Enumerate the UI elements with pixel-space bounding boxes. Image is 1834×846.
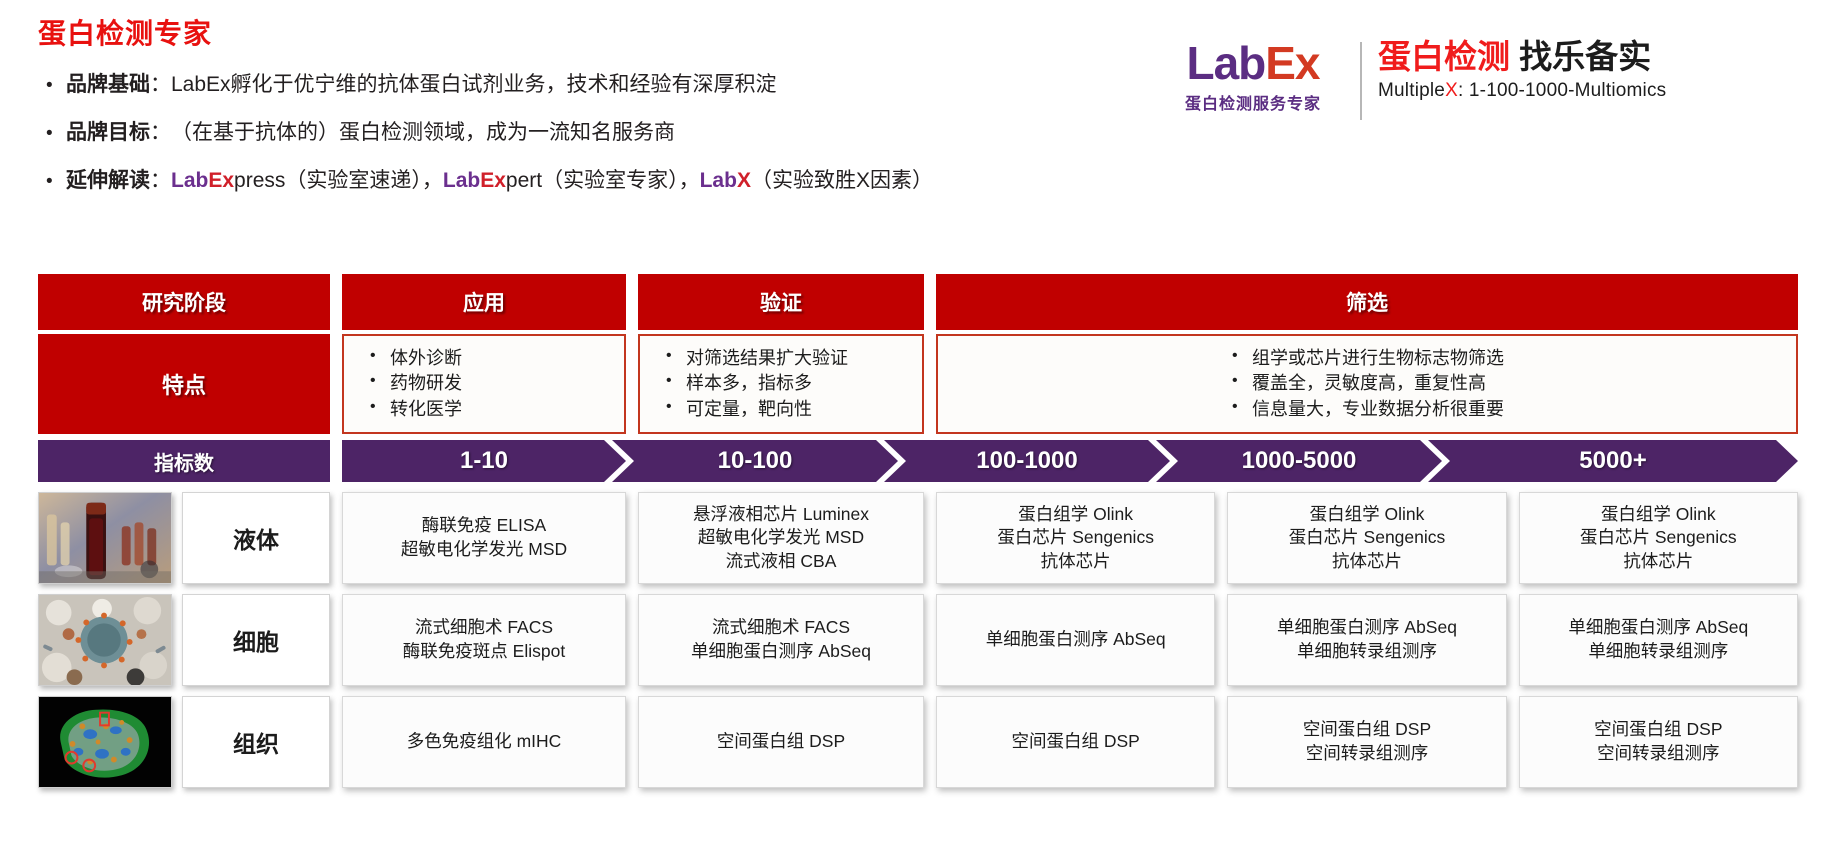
feature-item: 转化医学 [368, 397, 462, 423]
indicator-chevron-5: 5000+ [1428, 440, 1798, 482]
feature-box-validation: 对筛选结果扩大验证 样本多，指标多 可定量，靶向性 [638, 334, 924, 434]
cell-microscopy-photo [38, 594, 172, 686]
feature-item: 信息量大，专业数据分析很重要 [1230, 397, 1504, 423]
cell-cell-4: 单细胞蛋白测序 AbSeq单细胞转录组测序 [1227, 594, 1506, 686]
spacer [626, 594, 638, 686]
cell-text: 单细胞蛋白测序 AbSeq单细胞转录组测序 [1568, 616, 1748, 663]
logo-wordmark-ex: Ex [1265, 37, 1319, 89]
cell-line: 空间蛋白组 DSP [717, 730, 845, 754]
spacer [330, 594, 342, 686]
logo-divider [1360, 42, 1362, 120]
feature-list-screening: 组学或芯片进行生物标志物筛选 覆盖全，灵敏度高，重复性高 信息量大，专业数据分析… [1230, 346, 1504, 423]
spacer [626, 334, 638, 434]
spacer [1215, 492, 1227, 584]
feature-item: 药物研发 [368, 371, 462, 397]
cell-text: 悬浮液相芯片 Luminex超敏电化学发光 MSD流式液相 CBA [693, 503, 869, 574]
spacer [924, 274, 936, 330]
indicator-chevron-2: 10-100 [612, 440, 898, 482]
cell-line: 悬浮液相芯片 Luminex [693, 503, 869, 527]
bullet-text-1: LabEx孵化于优宁维的抗体蛋白试剂业务，技术和经验有深厚积淀 [171, 68, 777, 98]
multiplex-x: X [1445, 80, 1458, 101]
cell-line: 单细胞蛋白测序 AbSeq [986, 628, 1166, 652]
indicator-chevron-1: 1-10 [342, 440, 626, 482]
logo-tagline-red: 蛋白检测 [1378, 38, 1510, 75]
cell-line: 空间转录组测序 [1594, 742, 1722, 766]
spacer [330, 334, 342, 434]
feature-box-application: 体外诊断 药物研发 转化医学 [342, 334, 626, 434]
spacer [626, 492, 638, 584]
cell-liquid-2: 悬浮液相芯片 Luminex超敏电化学发光 MSD流式液相 CBA [638, 492, 924, 584]
indicator-chevron-3: 100-1000 [884, 440, 1170, 482]
spacer [172, 594, 182, 686]
header-col-application: 应用 [342, 274, 626, 330]
spacer [1215, 594, 1227, 686]
cell-text: 单细胞蛋白测序 AbSeq单细胞转录组测序 [1277, 616, 1457, 663]
logo-left-block: LabEx 蛋白检测服务专家 [1160, 40, 1360, 114]
cell-line: 蛋白芯片 Sengenics [1289, 526, 1446, 550]
cell-text: 单细胞蛋白测序 AbSeq [986, 628, 1166, 652]
feature-item: 覆盖全，灵敏度高，重复性高 [1230, 371, 1504, 397]
cell-line: 空间转录组测序 [1303, 742, 1431, 766]
bullet-list: • 品牌基础 ： LabEx孵化于优宁维的抗体蛋白试剂业务，技术和经验有深厚积淀… [40, 68, 1120, 212]
cell-tissue-2: 空间蛋白组 DSP [638, 696, 924, 788]
cell-tissue-4: 空间蛋白组 DSP空间转录组测序 [1227, 696, 1506, 788]
cell-text: 蛋白组学 Olink蛋白芯片 Sengenics抗体芯片 [1580, 503, 1737, 574]
spacer [1215, 696, 1227, 788]
logo-right-block: 蛋白检测 找乐备实 MultipleX: 1-100-1000-Multiomi… [1378, 40, 1666, 102]
cell-liquid-1: 酶联免疫 ELISA超敏电化学发光 MSD [342, 492, 626, 584]
spacer [330, 440, 342, 482]
spacer [626, 274, 638, 330]
slide-root: 蛋白检测专家 • 品牌基础 ： LabEx孵化于优宁维的抗体蛋白试剂业务，技术和… [0, 0, 1834, 846]
matrix-body-row-cell: 细胞 流式细胞术 FACS酶联免疫斑点 Elispot 流式细胞术 FACS单细… [38, 594, 1798, 686]
cell-liquid-5: 蛋白组学 Olink蛋白芯片 Sengenics抗体芯片 [1519, 492, 1798, 584]
cell-line: 单细胞转录组测序 [1568, 640, 1748, 664]
matrix-header-row: 研究阶段 应用 验证 筛选 [38, 274, 1798, 330]
matrix-feature-row: 特点 体外诊断 药物研发 转化医学 对筛选结果扩大验证 样本多，指标多 可定量，… [38, 334, 1798, 434]
logo-wordmark-lab: Lab [1186, 37, 1265, 89]
cell-line: 流式液相 CBA [693, 550, 869, 574]
spacer [924, 492, 936, 584]
bullet-item-1: • 品牌基础 ： LabEx孵化于优宁维的抗体蛋白试剂业务，技术和经验有深厚积淀 [40, 68, 1120, 98]
cell-cell-5: 单细胞蛋白测序 AbSeq单细胞转录组测序 [1519, 594, 1798, 686]
cell-cell-2: 流式细胞术 FACS单细胞蛋白测序 AbSeq [638, 594, 924, 686]
cell-line: 超敏电化学发光 MSD [693, 526, 869, 550]
feature-item: 可定量，靶向性 [664, 397, 848, 423]
cell-liquid-4: 蛋白组学 Olink蛋白芯片 Sengenics抗体芯片 [1227, 492, 1506, 584]
cell-text: 多色免疫组化 mIHC [407, 730, 562, 754]
header-stage: 研究阶段 [38, 274, 330, 330]
blood-vial-photo [38, 492, 172, 584]
logo-tagline: 蛋白检测 找乐备实 [1378, 40, 1666, 75]
cell-text: 空间蛋白组 DSP [1011, 730, 1139, 754]
spacer [1507, 594, 1519, 686]
cell-line: 蛋白组学 Olink [997, 503, 1154, 527]
bullet-item-3: • 延伸解读 ： LabExpress（实验室速递），LabExpert（实验室… [40, 164, 1120, 194]
cell-text: 流式细胞术 FACS酶联免疫斑点 Elispot [403, 616, 565, 663]
cell-line: 单细胞蛋白测序 AbSeq [1568, 616, 1748, 640]
feature-box-screening: 组学或芯片进行生物标志物筛选 覆盖全，灵敏度高，重复性高 信息量大，专业数据分析… [936, 334, 1798, 434]
cell-tissue-1: 多色免疫组化 mIHC [342, 696, 626, 788]
spacer [924, 594, 936, 686]
cell-line: 抗体芯片 [1289, 550, 1446, 574]
bullet-text-3: LabExpress（实验室速递），LabExpert（实验室专家），LabX（… [171, 164, 933, 194]
logo-multiplex-line: MultipleX: 1-100-1000-Multiomics [1378, 80, 1666, 102]
tissue-section-photo [38, 696, 172, 788]
cell-tissue-5: 空间蛋白组 DSP空间转录组测序 [1519, 696, 1798, 788]
row-label-tissue: 组织 [182, 696, 330, 788]
bullet-item-2: • 品牌目标 ： （在基于抗体的）蛋白检测领域，成为一流知名服务商 [40, 116, 1120, 146]
row-label-cell: 细胞 [182, 594, 330, 686]
cell-text: 蛋白组学 Olink蛋白芯片 Sengenics抗体芯片 [1289, 503, 1446, 574]
cell-line: 空间蛋白组 DSP [1594, 718, 1722, 742]
capability-matrix: 研究阶段 应用 验证 筛选 特点 体外诊断 药物研发 转化医学 对筛选结果 [38, 274, 1798, 788]
cell-line: 流式细胞术 FACS [691, 616, 871, 640]
cell-cell-1: 流式细胞术 FACS酶联免疫斑点 Elispot [342, 594, 626, 686]
multiplex-pre: Multiple [1378, 80, 1445, 101]
cell-line: 酶联免疫 ELISA [401, 514, 567, 538]
cell-line: 酶联免疫斑点 Elispot [403, 640, 565, 664]
cell-line: 单细胞转录组测序 [1277, 640, 1457, 664]
feature-item: 样本多，指标多 [664, 371, 848, 397]
spacer [626, 696, 638, 788]
spacer [924, 334, 936, 434]
spacer [330, 492, 342, 584]
cell-line: 抗体芯片 [1580, 550, 1737, 574]
cell-line: 多色免疫组化 mIHC [407, 730, 562, 754]
matrix-body-row-tissue: 组织 多色免疫组化 mIHC 空间蛋白组 DSP 空间蛋白组 DSP 空间蛋白组… [38, 696, 1798, 788]
page-title: 蛋白检测专家 [38, 12, 212, 52]
bullet-sep-3: ： [150, 164, 171, 194]
matrix-body-row-liquid: 液体 酶联免疫 ELISA超敏电化学发光 MSD 悬浮液相芯片 Luminex超… [38, 492, 1798, 584]
spacer [172, 492, 182, 584]
indicator-row-label: 指标数 [38, 440, 330, 482]
cell-line: 空间蛋白组 DSP [1011, 730, 1139, 754]
spacer [1507, 696, 1519, 788]
cell-line: 空间蛋白组 DSP [1303, 718, 1431, 742]
bullet-text-2: （在基于抗体的）蛋白检测领域，成为一流知名服务商 [171, 116, 675, 146]
bullet-marker-icon: • [40, 75, 66, 97]
spacer [330, 274, 342, 330]
multiplex-post: : 1-100-1000-Multiomics [1458, 80, 1666, 101]
cell-line: 抗体芯片 [997, 550, 1154, 574]
bullet-marker-icon: • [40, 123, 66, 145]
cell-cell-3: 单细胞蛋白测序 AbSeq [936, 594, 1215, 686]
cell-tissue-3: 空间蛋白组 DSP [936, 696, 1215, 788]
bullet-label-2: 品牌目标 [66, 116, 150, 146]
cell-text: 蛋白组学 Olink蛋白芯片 Sengenics抗体芯片 [997, 503, 1154, 574]
bullet-label-1: 品牌基础 [66, 68, 150, 98]
labex-logo: LabEx 蛋白检测服务专家 蛋白检测 找乐备实 MultipleX: 1-10… [1160, 40, 1666, 120]
matrix-indicator-row: 指标数 1-10 10-100 100-1000 1000-5000 5000+ [38, 440, 1798, 482]
cell-line: 流式细胞术 FACS [403, 616, 565, 640]
cell-liquid-3: 蛋白组学 Olink蛋白芯片 Sengenics抗体芯片 [936, 492, 1215, 584]
row-label-liquid: 液体 [182, 492, 330, 584]
bullet-marker-icon: • [40, 171, 66, 193]
header-col-screening: 筛选 [936, 274, 1798, 330]
cell-line: 超敏电化学发光 MSD [401, 538, 567, 562]
header-col-validation: 验证 [638, 274, 924, 330]
logo-wordmark: LabEx [1160, 40, 1346, 86]
indicator-chevron-4: 1000-5000 [1156, 440, 1442, 482]
spacer [172, 696, 182, 788]
cell-text: 流式细胞术 FACS单细胞蛋白测序 AbSeq [691, 616, 871, 663]
cell-line: 蛋白芯片 Sengenics [997, 526, 1154, 550]
cell-line: 单细胞蛋白测序 AbSeq [1277, 616, 1457, 640]
feature-row-label: 特点 [38, 334, 330, 434]
logo-tagline-black: 找乐备实 [1519, 38, 1651, 75]
spacer [924, 696, 936, 788]
feature-list-validation: 对筛选结果扩大验证 样本多，指标多 可定量，靶向性 [664, 346, 848, 423]
cell-line: 蛋白组学 Olink [1289, 503, 1446, 527]
cell-line: 蛋白组学 Olink [1580, 503, 1737, 527]
spacer [330, 696, 342, 788]
cell-text: 空间蛋白组 DSP空间转录组测序 [1303, 718, 1431, 765]
feature-list-application: 体外诊断 药物研发 转化医学 [368, 346, 462, 423]
bullet-sep-2: ： [150, 116, 171, 146]
feature-item: 对筛选结果扩大验证 [664, 346, 848, 372]
bullet-sep-1: ： [150, 68, 171, 98]
cell-line: 蛋白芯片 Sengenics [1580, 526, 1737, 550]
feature-item: 体外诊断 [368, 346, 462, 372]
cell-text: 空间蛋白组 DSP [717, 730, 845, 754]
logo-subtitle: 蛋白检测服务专家 [1160, 90, 1346, 114]
cell-text: 酶联免疫 ELISA超敏电化学发光 MSD [401, 514, 567, 561]
spacer [1507, 492, 1519, 584]
cell-line: 单细胞蛋白测序 AbSeq [691, 640, 871, 664]
bullet-label-3: 延伸解读 [66, 164, 150, 194]
cell-text: 空间蛋白组 DSP空间转录组测序 [1594, 718, 1722, 765]
feature-item: 组学或芯片进行生物标志物筛选 [1230, 346, 1504, 372]
